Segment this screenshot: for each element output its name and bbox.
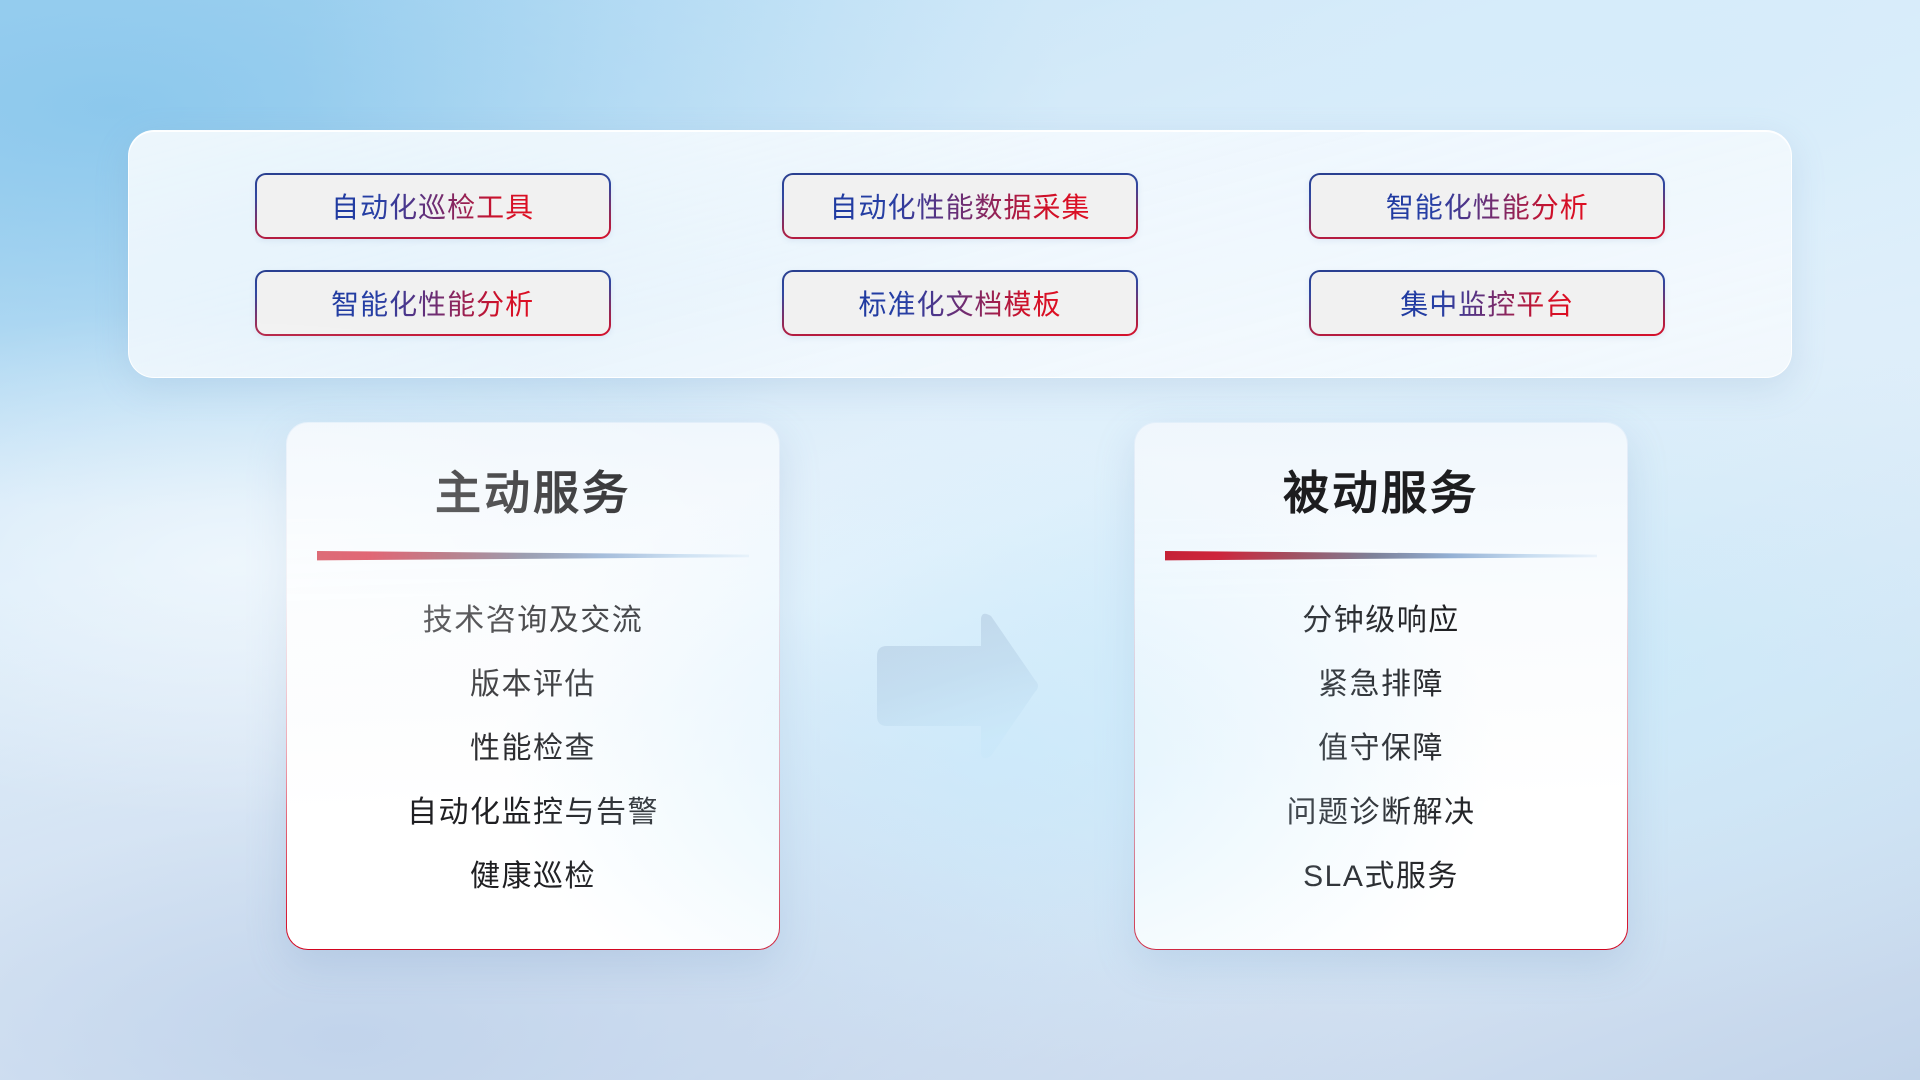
list-item: 性能检查 [317,729,749,768]
list-item: SLA式服务 [1165,857,1597,896]
capability-tag[interactable]: 智能化性能分析 [255,270,611,336]
capability-tag-label: 智能化性能分析 [331,283,534,323]
capability-tag-label: 自动化巡检工具 [331,186,534,226]
service-item-list: 分钟级响应 紧急排障 值守保障 问题诊断解决 SLA式服务 [1165,563,1597,928]
capability-tag-label: 智能化性能分析 [1386,186,1589,226]
capability-tag[interactable]: 标准化文档模板 [782,270,1138,336]
flow-arrow-right-icon [865,610,1041,762]
list-item: 紧急排障 [1165,665,1597,704]
card-title: 主动服务 [317,465,749,523]
service-card-reactive[interactable]: 被动服务 分钟级响应 紧急排障 [1134,422,1628,950]
title-divider [1165,549,1597,563]
list-item: 版本评估 [317,665,749,704]
list-item: 健康巡检 [317,857,749,896]
service-item-list: 技术咨询及交流 版本评估 性能检查 自动化监控与告警 健康巡检 [317,563,749,928]
capability-tag-label: 标准化文档模板 [858,283,1061,323]
list-item: 技术咨询及交流 [317,601,749,640]
list-item: 自动化监控与告警 [317,793,749,832]
capability-tag[interactable]: 智能化性能分析 [1309,173,1665,239]
capability-tag[interactable]: 集中监控平台 [1309,270,1665,336]
title-divider [317,549,749,563]
capability-tag[interactable]: 自动化性能数据采集 [782,173,1138,239]
slide-canvas: 自动化巡检工具 自动化性能数据采集 智能化性能分析 智能化性能分析 标准化文档模… [0,0,1920,1080]
service-card-proactive[interactable]: 主动服务 技术咨询及交流 版本评估 [286,422,780,950]
capability-tag-label: 自动化性能数据采集 [829,186,1090,226]
capability-tags-panel: 自动化巡检工具 自动化性能数据采集 智能化性能分析 智能化性能分析 标准化文档模… [128,130,1792,378]
list-item: 分钟级响应 [1165,601,1597,640]
card-title: 被动服务 [1165,465,1597,523]
list-item: 问题诊断解决 [1165,793,1597,832]
list-item: 值守保障 [1165,729,1597,768]
capability-tag-label: 集中监控平台 [1400,283,1574,323]
capability-tag[interactable]: 自动化巡检工具 [255,173,611,239]
